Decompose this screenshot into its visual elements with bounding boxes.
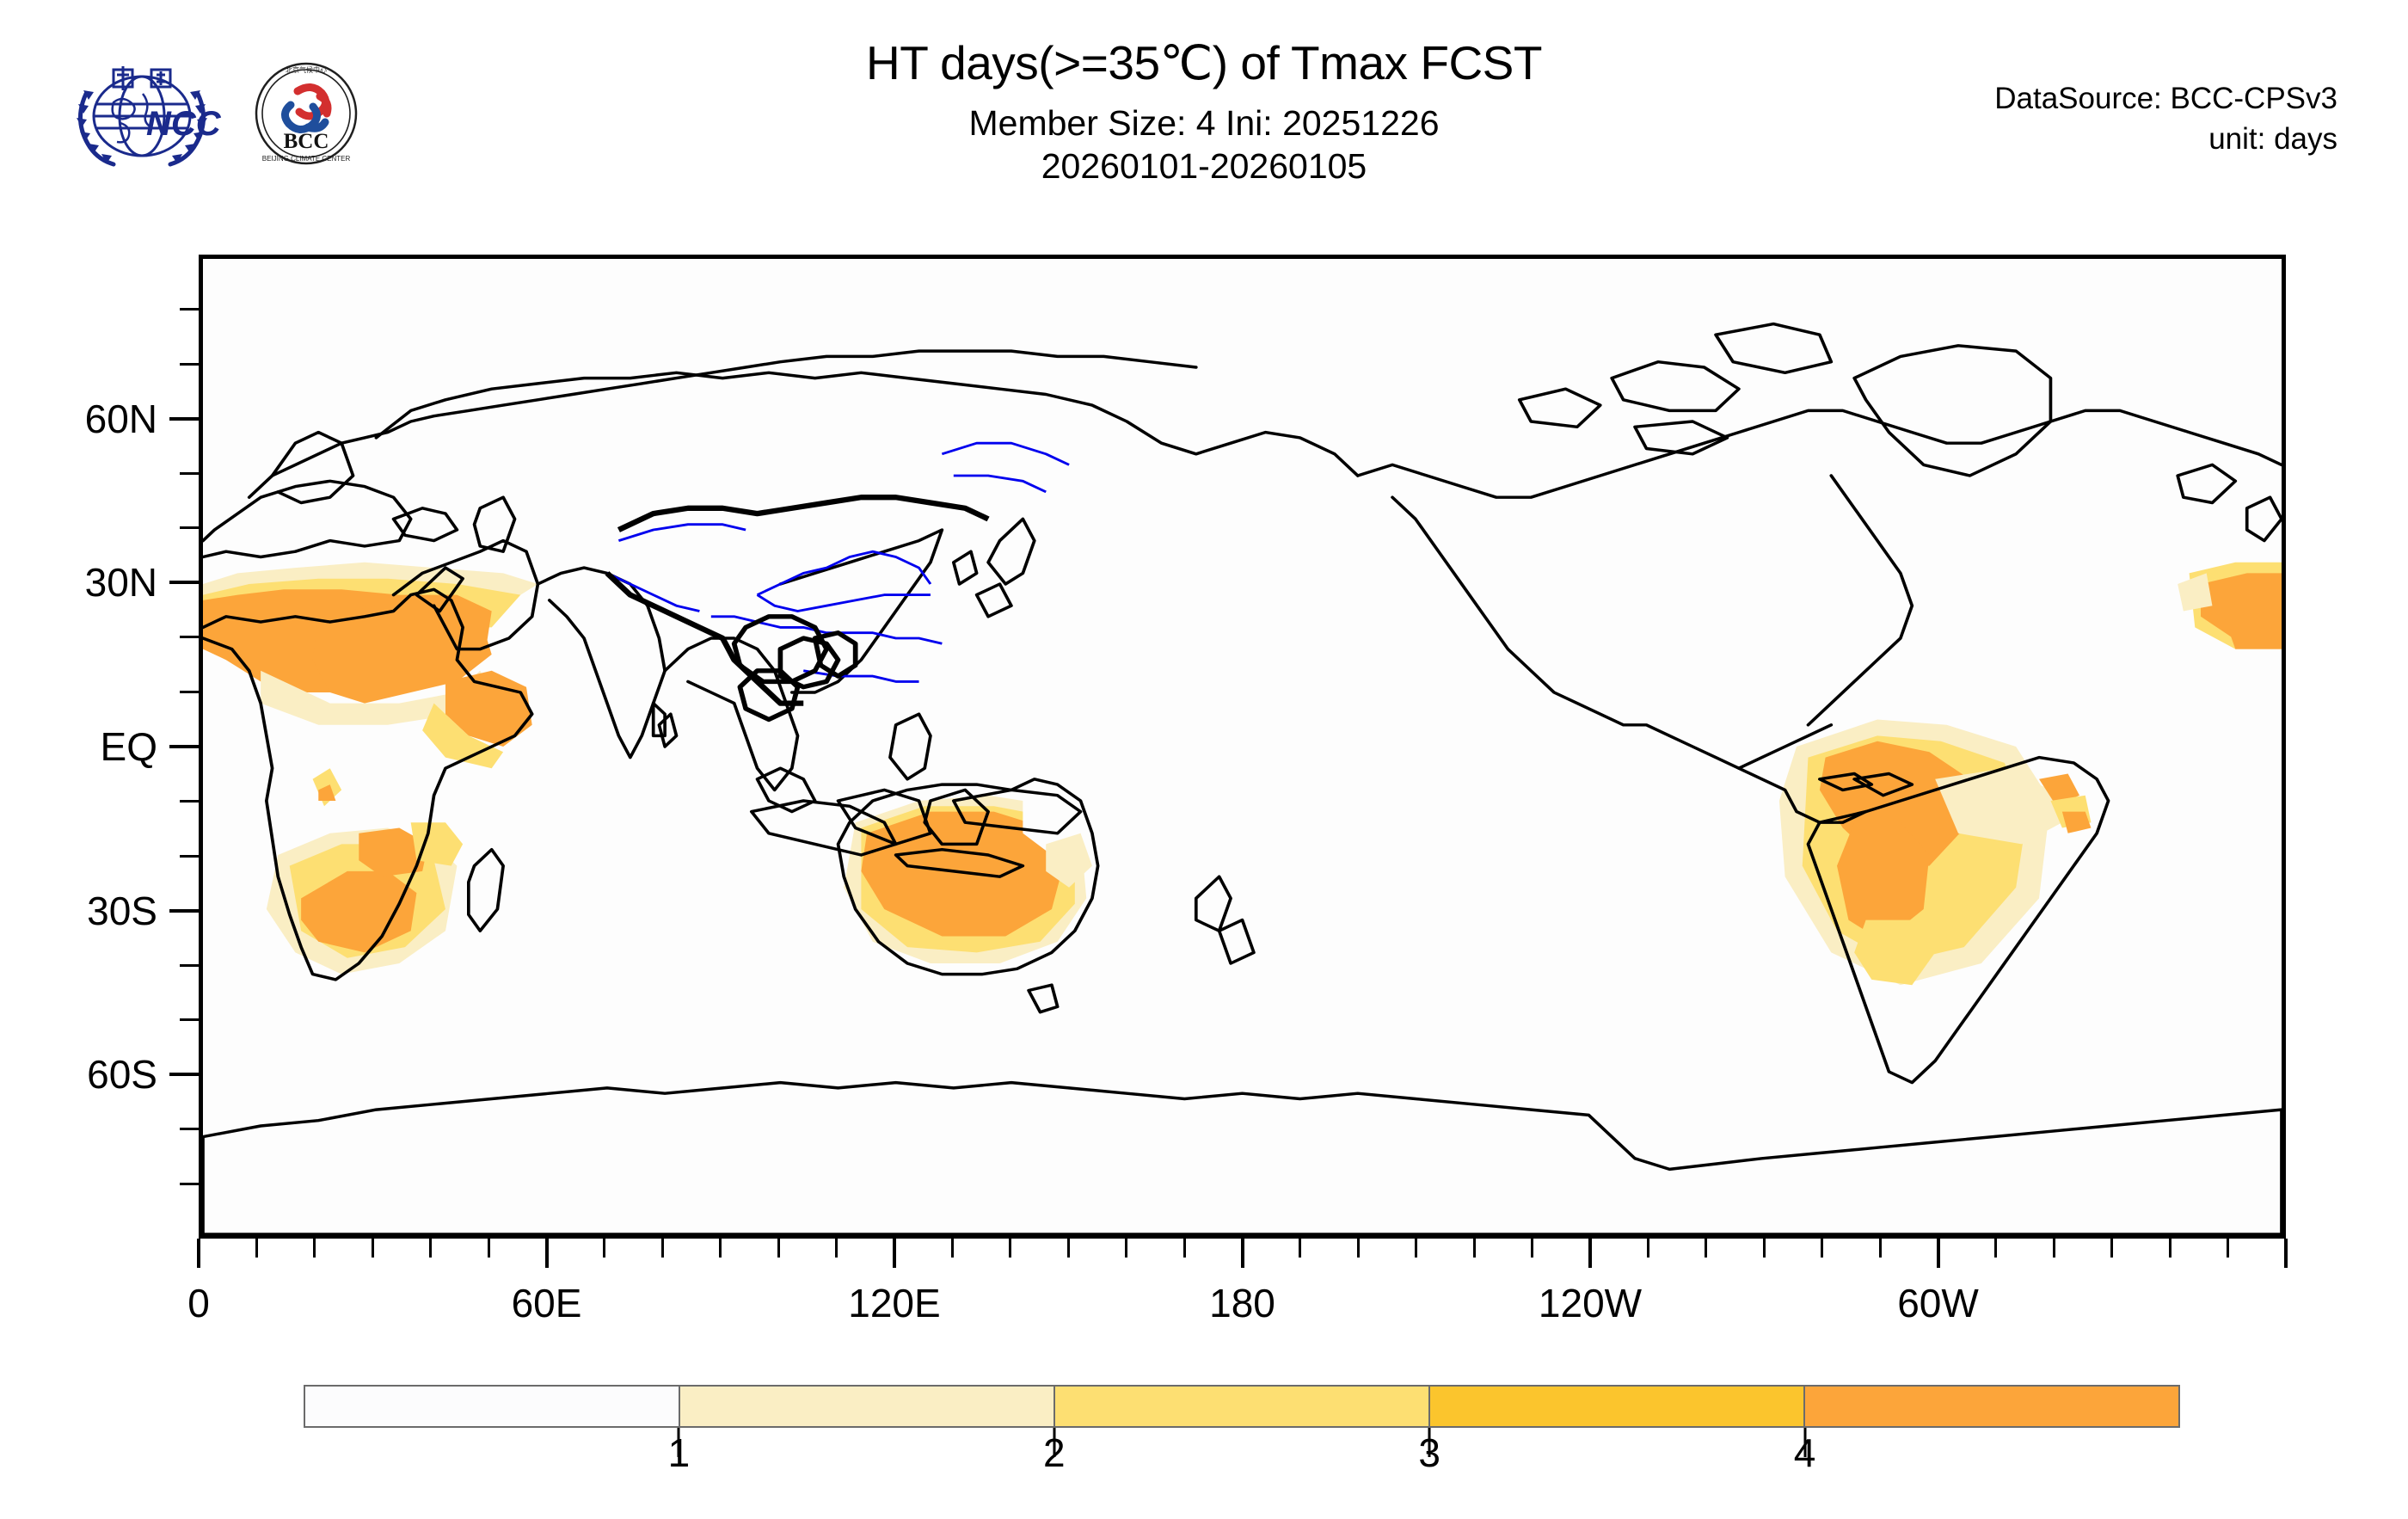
svg-text:NCC: NCC	[146, 105, 222, 143]
y-axis-label: 30S	[87, 891, 157, 931]
datasource-label: DataSource: BCC-CPSv3	[1994, 83, 2337, 116]
y-axis-label: 30N	[85, 563, 157, 602]
y-axis-label: EQ	[101, 727, 157, 766]
x-tick-minor	[719, 1239, 722, 1258]
bcc-logo: BCC 北京气候中心 BEIJING CLIMATE CENTER	[253, 60, 359, 167]
unit-label: unit: days	[1994, 123, 2337, 157]
x-tick-minor	[1531, 1239, 1533, 1258]
x-tick-minor	[1763, 1239, 1766, 1258]
ncc-logo: NCC	[60, 59, 224, 168]
x-tick-minor	[1183, 1239, 1186, 1258]
x-tick-major	[1588, 1239, 1592, 1268]
y-axis-label: 60S	[87, 1055, 157, 1094]
x-tick-minor	[1473, 1239, 1476, 1258]
map-plot-area	[199, 255, 2286, 1239]
x-tick-minor	[1357, 1239, 1360, 1258]
x-tick-minor	[1299, 1239, 1301, 1258]
meta-block: DataSource: BCC-CPSv3 unit: days	[1994, 83, 2337, 156]
x-tick-minor	[372, 1239, 374, 1258]
x-tick-minor	[661, 1239, 664, 1258]
svg-text:BEIJING CLIMATE CENTER: BEIJING CLIMATE CENTER	[262, 155, 351, 163]
y-axis-label: 60N	[85, 399, 157, 439]
x-tick-minor	[255, 1239, 258, 1258]
x-tick-minor	[429, 1239, 432, 1258]
x-tick-minor	[2227, 1239, 2229, 1258]
x-axis-label: 120W	[1539, 1283, 1642, 1323]
x-tick-minor	[1821, 1239, 1823, 1258]
x-axis-label: 180	[1209, 1283, 1275, 1323]
x-axis-label: 60E	[512, 1283, 582, 1323]
x-axis-label: 60W	[1897, 1283, 1979, 1323]
x-tick-major	[545, 1239, 549, 1268]
x-tick-minor	[488, 1239, 490, 1258]
x-tick-major	[1937, 1239, 1940, 1268]
x-tick-minor	[1125, 1239, 1127, 1258]
map-canvas	[203, 259, 2282, 1234]
x-tick-minor	[603, 1239, 605, 1258]
x-tick-minor	[2110, 1239, 2113, 1258]
x-tick-major	[197, 1239, 200, 1268]
svg-text:BCC: BCC	[284, 130, 329, 153]
x-tick-minor	[835, 1239, 838, 1258]
x-tick-minor	[2169, 1239, 2171, 1258]
logo-group: NCC BCC 北京气候中心 BEIJING CLIMATE CENTER	[60, 53, 404, 174]
colorbar-label: 1	[668, 1433, 691, 1473]
x-tick-minor	[1009, 1239, 1011, 1258]
x-tick-minor	[1994, 1239, 1997, 1258]
x-tick-minor	[313, 1239, 316, 1258]
x-axis-label: 0	[187, 1283, 210, 1323]
colorbar-label: 4	[1794, 1433, 1816, 1473]
x-axis-ticks: 060E120E180120W60W	[199, 1239, 2286, 1273]
x-tick-minor	[1879, 1239, 1882, 1258]
y-axis-labels: 60N30NEQ30S60S	[0, 255, 199, 1239]
colorbar-ticks: 1234	[304, 1385, 2180, 1488]
x-tick-minor	[951, 1239, 954, 1258]
x-tick-minor	[777, 1239, 780, 1258]
x-tick-minor	[1705, 1239, 1707, 1258]
x-tick-major	[2284, 1239, 2288, 1268]
x-axis-label: 120E	[848, 1283, 940, 1323]
x-tick-major	[1241, 1239, 1244, 1268]
x-tick-minor	[1647, 1239, 1649, 1258]
x-tick-minor	[1415, 1239, 1417, 1258]
x-tick-minor	[2053, 1239, 2055, 1258]
world-map-svg	[203, 259, 2282, 1234]
colorbar-label: 2	[1043, 1433, 1066, 1473]
x-tick-minor	[1067, 1239, 1070, 1258]
x-tick-major	[893, 1239, 896, 1268]
svg-text:北京气候中心: 北京气候中心	[286, 65, 327, 74]
colorbar-label: 3	[1418, 1433, 1440, 1473]
